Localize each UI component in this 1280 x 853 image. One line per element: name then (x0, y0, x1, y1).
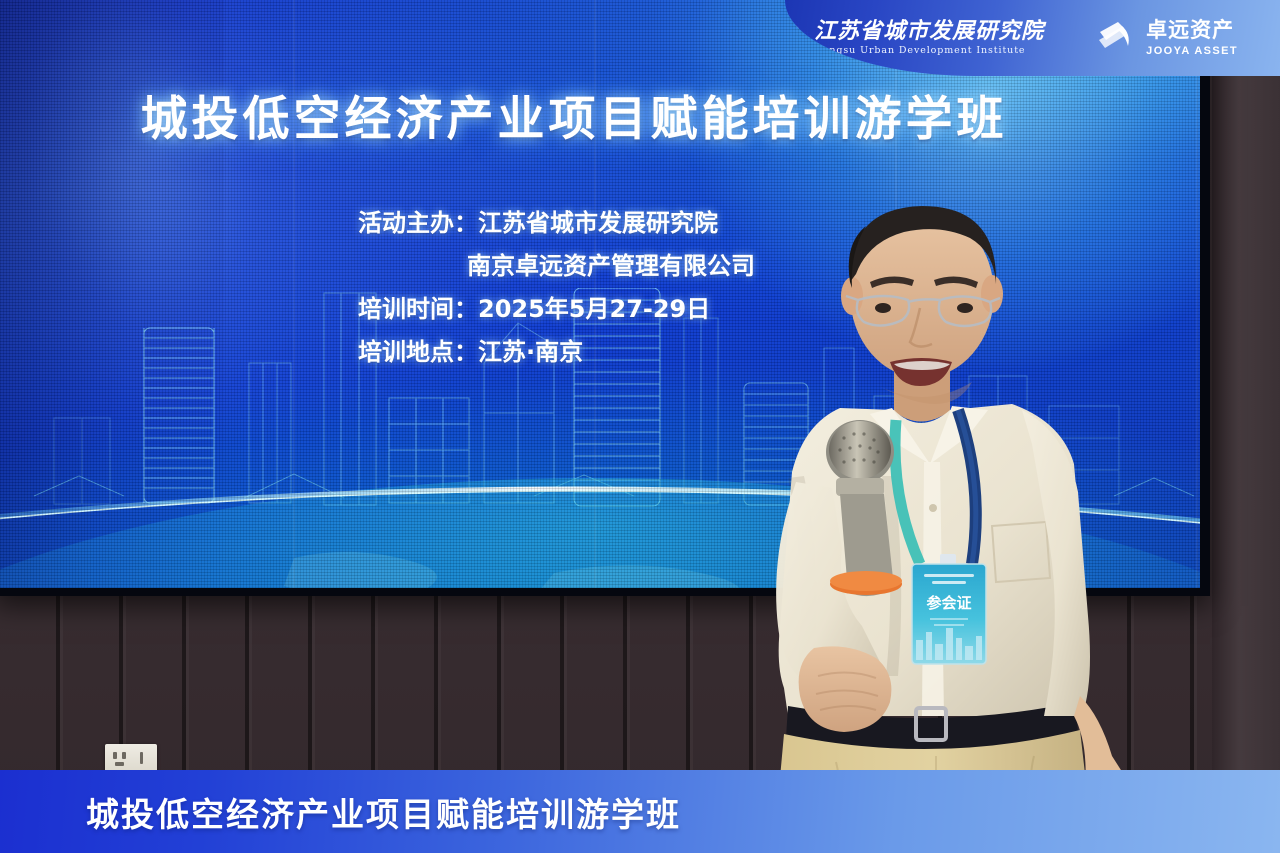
info-value-organizer-1: 江苏省城市发展研究院 (478, 209, 718, 237)
info-line-date: 培训时间：2025年5月27-29日 (358, 288, 755, 331)
brand-jiangsu-name-cn: 江苏省城市发展研究院 (814, 20, 1044, 42)
brand-jiangsu-text: 江苏省城市发展研究院 Jiangsu Urban Development Ins… (814, 20, 1044, 56)
info-value-date: 2025年5月27-29日 (478, 295, 710, 323)
brand-jooya: 卓远资产 JOOYA ASSET (1096, 20, 1238, 57)
badge-title-text: 参会证 (926, 594, 971, 612)
info-value-organizer-2: 南京卓远资产管理有限公司 (467, 252, 755, 280)
screenshot-root: 城投低空经济产业项目赋能培训游学班 活动主办：江苏省城市发展研究院 南京卓远资产… (0, 0, 1280, 853)
brand-jooya-text: 卓远资产 JOOYA ASSET (1146, 20, 1238, 57)
info-label-date: 培训时间： (358, 295, 478, 323)
info-value-location: 江苏·南京 (478, 338, 583, 366)
info-label-location: 培训地点： (358, 338, 478, 366)
book-pages-icon (1096, 20, 1136, 56)
led-screen-title: 城投低空经济产业项目赋能培训游学班 (0, 80, 1154, 149)
info-line-organizer-1: 活动主办：江苏省城市发展研究院 (358, 202, 755, 245)
bottom-caption-bar: 城投低空经济产业项目赋能培训游学班 (0, 770, 1280, 853)
led-screen-info-block: 活动主办：江苏省城市发展研究院 南京卓远资产管理有限公司 培训时间：2025年5… (358, 202, 755, 374)
brand-jooya-name-en: JOOYA ASSET (1146, 46, 1238, 57)
brand-jooya-name-cn: 卓远资产 (1146, 20, 1238, 41)
speaker-person: 参会证 (744, 196, 1140, 800)
info-line-organizer-2: 南京卓远资产管理有限公司 (358, 245, 755, 288)
info-line-location: 培训地点：江苏·南京 (358, 331, 755, 374)
info-label-organizer: 活动主办： (358, 209, 478, 237)
brand-jiangsu-name-en: Jiangsu Urban Development Institute (814, 46, 1044, 56)
wall-right-panel (1212, 0, 1280, 790)
caption-title: 城投低空经济产业项目赋能培训游学班 (86, 788, 681, 836)
